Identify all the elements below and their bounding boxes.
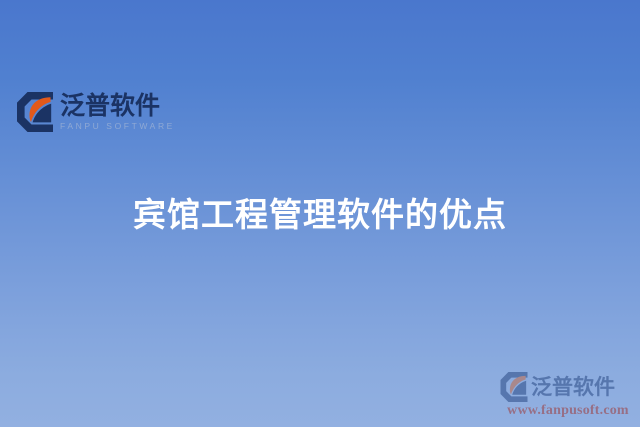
watermark-name-cn: 泛普软件 — [531, 375, 615, 399]
brand-wordmark: 泛普软件 FANPU SOFTWARE — [60, 92, 175, 132]
fanpu-logo-icon — [500, 372, 528, 402]
watermark-logo-row: 泛普软件 — [498, 372, 638, 402]
brand-logo: 泛普软件 FANPU SOFTWARE — [17, 92, 175, 132]
brand-name-cn: 泛普软件 — [60, 92, 175, 119]
poster-canvas: 泛普软件 FANPU SOFTWARE 宾馆工程管理软件的优点 泛普软件 www… — [0, 0, 640, 427]
watermark: 泛普软件 www.fanpusoft.com — [498, 372, 638, 419]
fanpu-logo-icon — [17, 92, 53, 132]
brand-name-en: FANPU SOFTWARE — [60, 121, 175, 132]
watermark-url: www.fanpusoft.com — [498, 403, 638, 419]
page-title: 宾馆工程管理软件的优点 — [0, 193, 640, 237]
